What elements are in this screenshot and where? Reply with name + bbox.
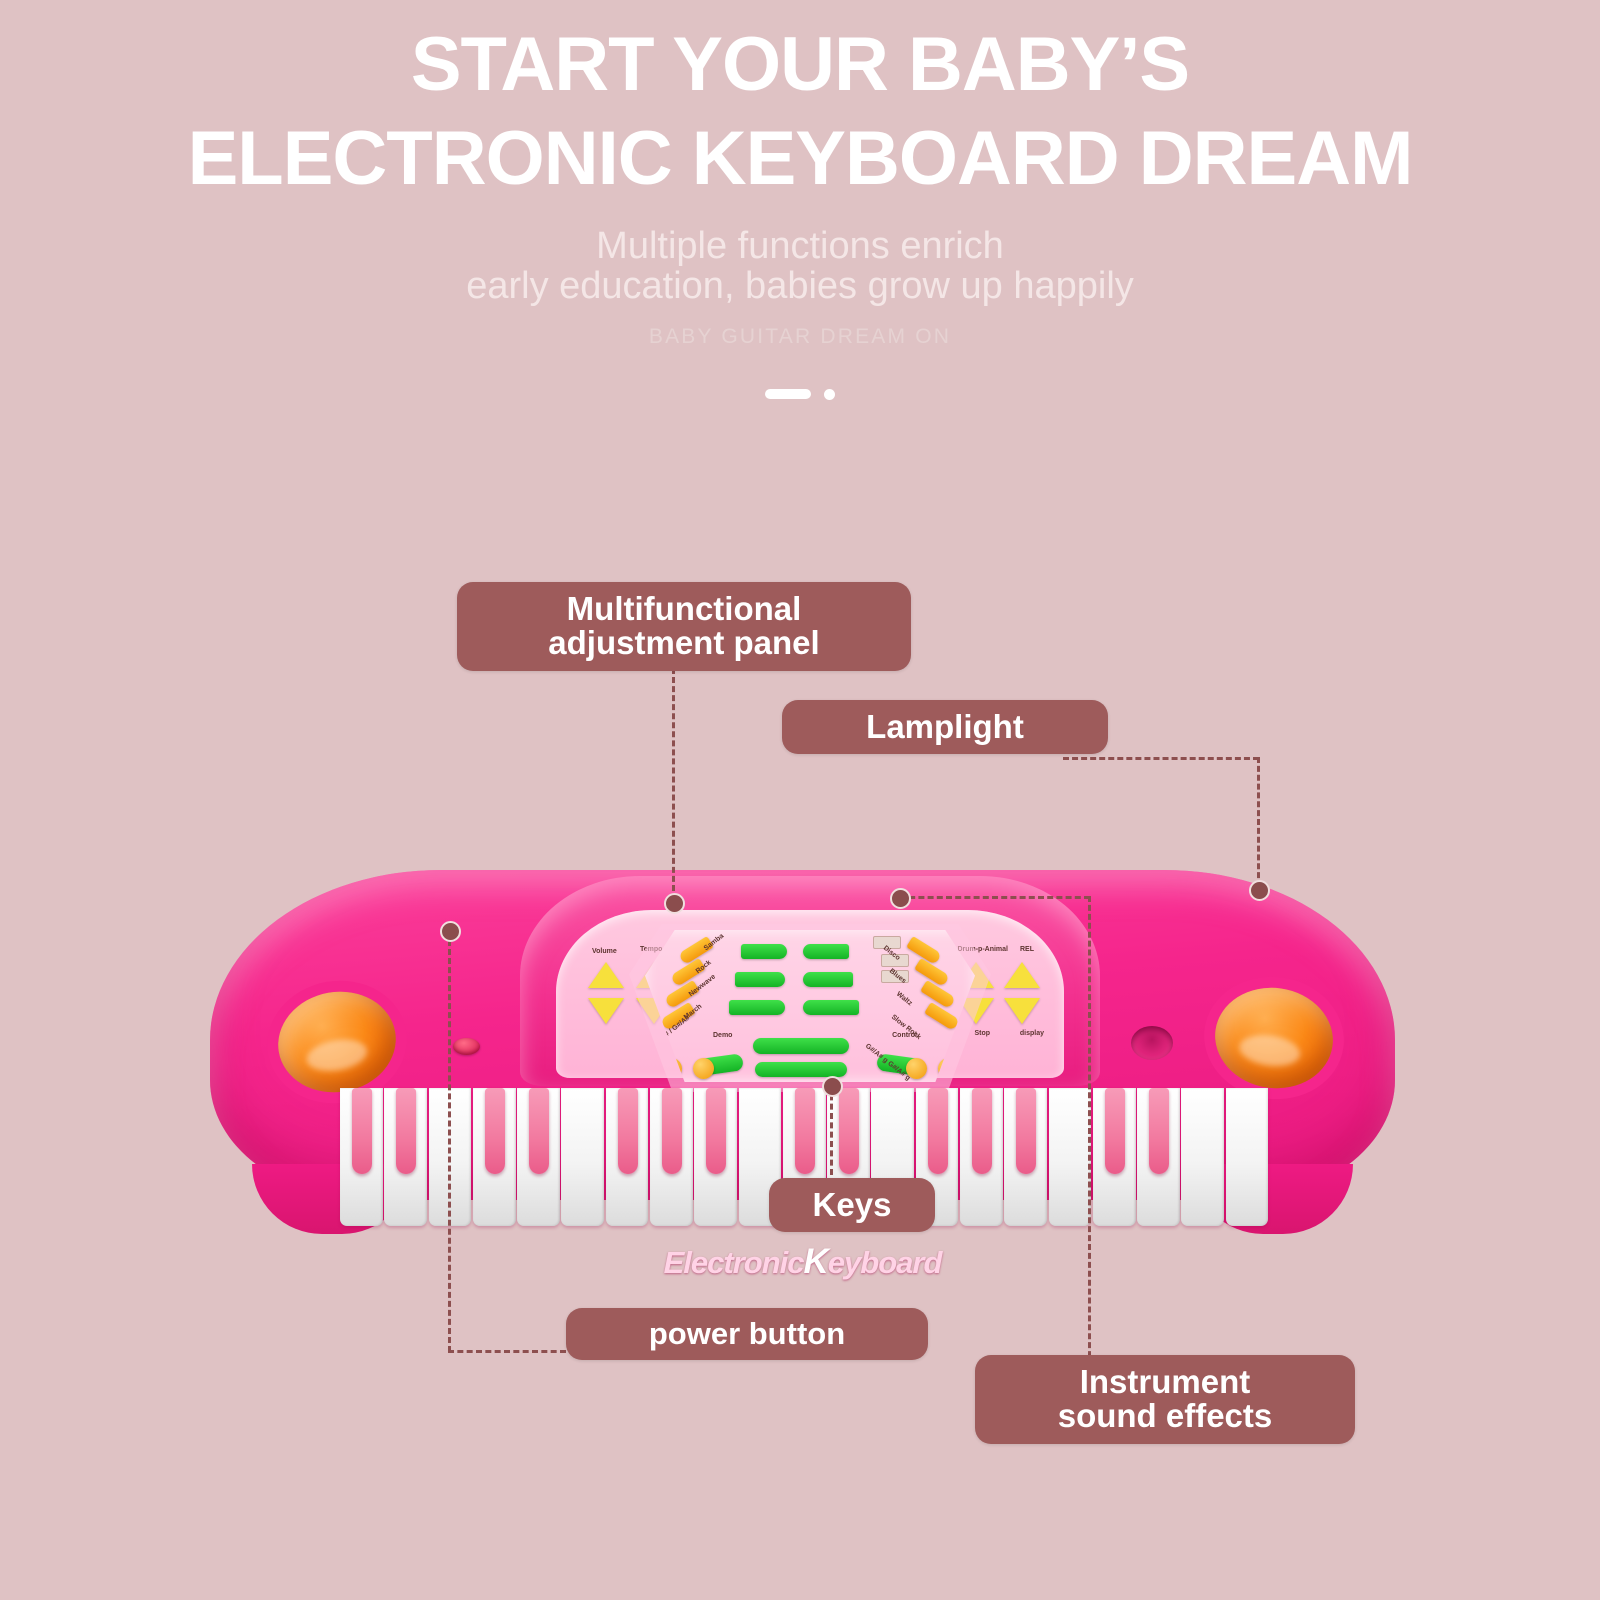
connector-sound-effects bbox=[1088, 896, 1091, 1366]
connector-dot-keys bbox=[822, 1076, 843, 1097]
title-line-1: START YOUR BABY’S bbox=[0, 0, 1600, 104]
label-waltz: Waltz bbox=[895, 991, 914, 1008]
instrument-button-4[interactable] bbox=[803, 972, 853, 987]
black-key[interactable] bbox=[972, 1088, 992, 1174]
connector-keys bbox=[830, 1085, 833, 1175]
connector-dot-sound-effects bbox=[890, 888, 911, 909]
instrument-button-6[interactable] bbox=[803, 1000, 859, 1015]
white-key[interactable] bbox=[1181, 1088, 1224, 1226]
instrument-button-1[interactable] bbox=[741, 944, 787, 959]
callout-lamplight[interactable]: Lamplight bbox=[782, 700, 1108, 754]
connector-lamp-h bbox=[1063, 757, 1259, 760]
connector-sound-effects-h bbox=[900, 896, 1090, 899]
callout-instrument-sound-effects[interactable]: Instrument sound effects bbox=[975, 1355, 1355, 1444]
lamp-gloss-left bbox=[304, 1035, 370, 1075]
header: START YOUR BABY’S ELECTRONIC KEYBOARD DR… bbox=[0, 0, 1600, 400]
connector-power-v bbox=[448, 940, 451, 1352]
control-console: Volume Tempo Drum-p-Animal REL Stop disp… bbox=[520, 876, 1100, 1086]
connector-dot-lamp bbox=[1249, 880, 1270, 901]
subtitle-line-2: early education, babies grow up happily bbox=[0, 267, 1600, 307]
black-key[interactable] bbox=[529, 1088, 549, 1174]
white-key[interactable] bbox=[561, 1088, 604, 1226]
label-rel: REL bbox=[1020, 946, 1034, 953]
label-volume: Volume bbox=[592, 948, 617, 955]
promo-page: START YOUR BABY’S ELECTRONIC KEYBOARD DR… bbox=[0, 0, 1600, 1600]
black-key[interactable] bbox=[928, 1088, 948, 1174]
chord-round-button-2[interactable] bbox=[693, 1058, 714, 1079]
connector-power-h bbox=[448, 1350, 566, 1353]
brand-suffix: eyboard bbox=[828, 1245, 942, 1280]
rhythm-button-slow-rock[interactable] bbox=[924, 1002, 960, 1031]
black-key[interactable] bbox=[662, 1088, 682, 1174]
callout-keys[interactable]: Keys bbox=[769, 1178, 935, 1232]
black-key[interactable] bbox=[485, 1088, 505, 1174]
callout-multifunctional-adjustment-panel[interactable]: Multifunctional adjustment panel bbox=[457, 582, 911, 671]
instrument-button-5[interactable] bbox=[729, 1000, 785, 1015]
display-up-button[interactable] bbox=[1004, 962, 1040, 988]
volume-down-button[interactable] bbox=[588, 998, 624, 1024]
title-line-2: ELECTRONIC KEYBOARD DREAM bbox=[0, 104, 1600, 198]
label-stop: Stop bbox=[974, 1030, 990, 1037]
label-display: display bbox=[1020, 1030, 1044, 1037]
connector-lamp-v bbox=[1257, 757, 1260, 887]
black-key[interactable] bbox=[618, 1088, 638, 1174]
keyboard-body: Volume Tempo Drum-p-Animal REL Stop disp… bbox=[210, 870, 1395, 1200]
subtitle-line-1: Multiple functions enrich bbox=[0, 227, 1600, 267]
black-key[interactable] bbox=[839, 1088, 859, 1174]
display-down-button[interactable] bbox=[1004, 998, 1040, 1024]
black-key[interactable] bbox=[706, 1088, 726, 1174]
instrument-button-2[interactable] bbox=[803, 944, 849, 959]
white-key[interactable] bbox=[1049, 1088, 1092, 1226]
hex-sound-panel: Samba Rock Newwave March Disco Blues Wal… bbox=[645, 930, 975, 1082]
divider-bar bbox=[765, 389, 811, 399]
black-key[interactable] bbox=[1105, 1088, 1125, 1174]
black-key[interactable] bbox=[396, 1088, 416, 1174]
connector-dot-panel bbox=[664, 893, 685, 914]
label-samba: Samba bbox=[703, 933, 725, 953]
brand-prefix: Electronic bbox=[664, 1245, 804, 1280]
microphone-jack[interactable] bbox=[1131, 1026, 1173, 1060]
demo-bar-button-1[interactable] bbox=[753, 1038, 849, 1054]
lamplight-right[interactable] bbox=[1209, 980, 1340, 1095]
connector-dot-power bbox=[440, 921, 461, 942]
black-key[interactable] bbox=[1016, 1088, 1036, 1174]
lamp-gloss-right bbox=[1237, 1031, 1302, 1069]
white-key[interactable] bbox=[1226, 1088, 1269, 1226]
demo-bar-button-2[interactable] bbox=[755, 1062, 847, 1077]
divider-dot bbox=[824, 389, 835, 400]
lamplight-left[interactable] bbox=[270, 983, 404, 1102]
brand-logo: ElectronicKeyboard bbox=[210, 1242, 1395, 1282]
callout-power-button[interactable]: power button bbox=[566, 1308, 928, 1360]
black-key[interactable] bbox=[795, 1088, 815, 1174]
volume-up-button[interactable] bbox=[588, 962, 624, 988]
brand-cap: K bbox=[804, 1242, 828, 1281]
page-title: START YOUR BABY’S ELECTRONIC KEYBOARD DR… bbox=[0, 0, 1600, 197]
black-key[interactable] bbox=[352, 1088, 372, 1174]
divider-ornament bbox=[0, 389, 1600, 400]
connector-panel bbox=[672, 668, 675, 900]
black-key[interactable] bbox=[1149, 1088, 1169, 1174]
instrument-button-3[interactable] bbox=[735, 972, 785, 987]
subtitle: Multiple functions enrich early educatio… bbox=[0, 227, 1600, 307]
power-button[interactable] bbox=[453, 1038, 480, 1055]
console-face: Volume Tempo Drum-p-Animal REL Stop disp… bbox=[556, 910, 1064, 1078]
tagline: BABY GUITAR DREAM ON bbox=[0, 325, 1600, 349]
label-demo: Demo bbox=[713, 1032, 732, 1039]
label-control: Control bbox=[892, 1032, 917, 1039]
